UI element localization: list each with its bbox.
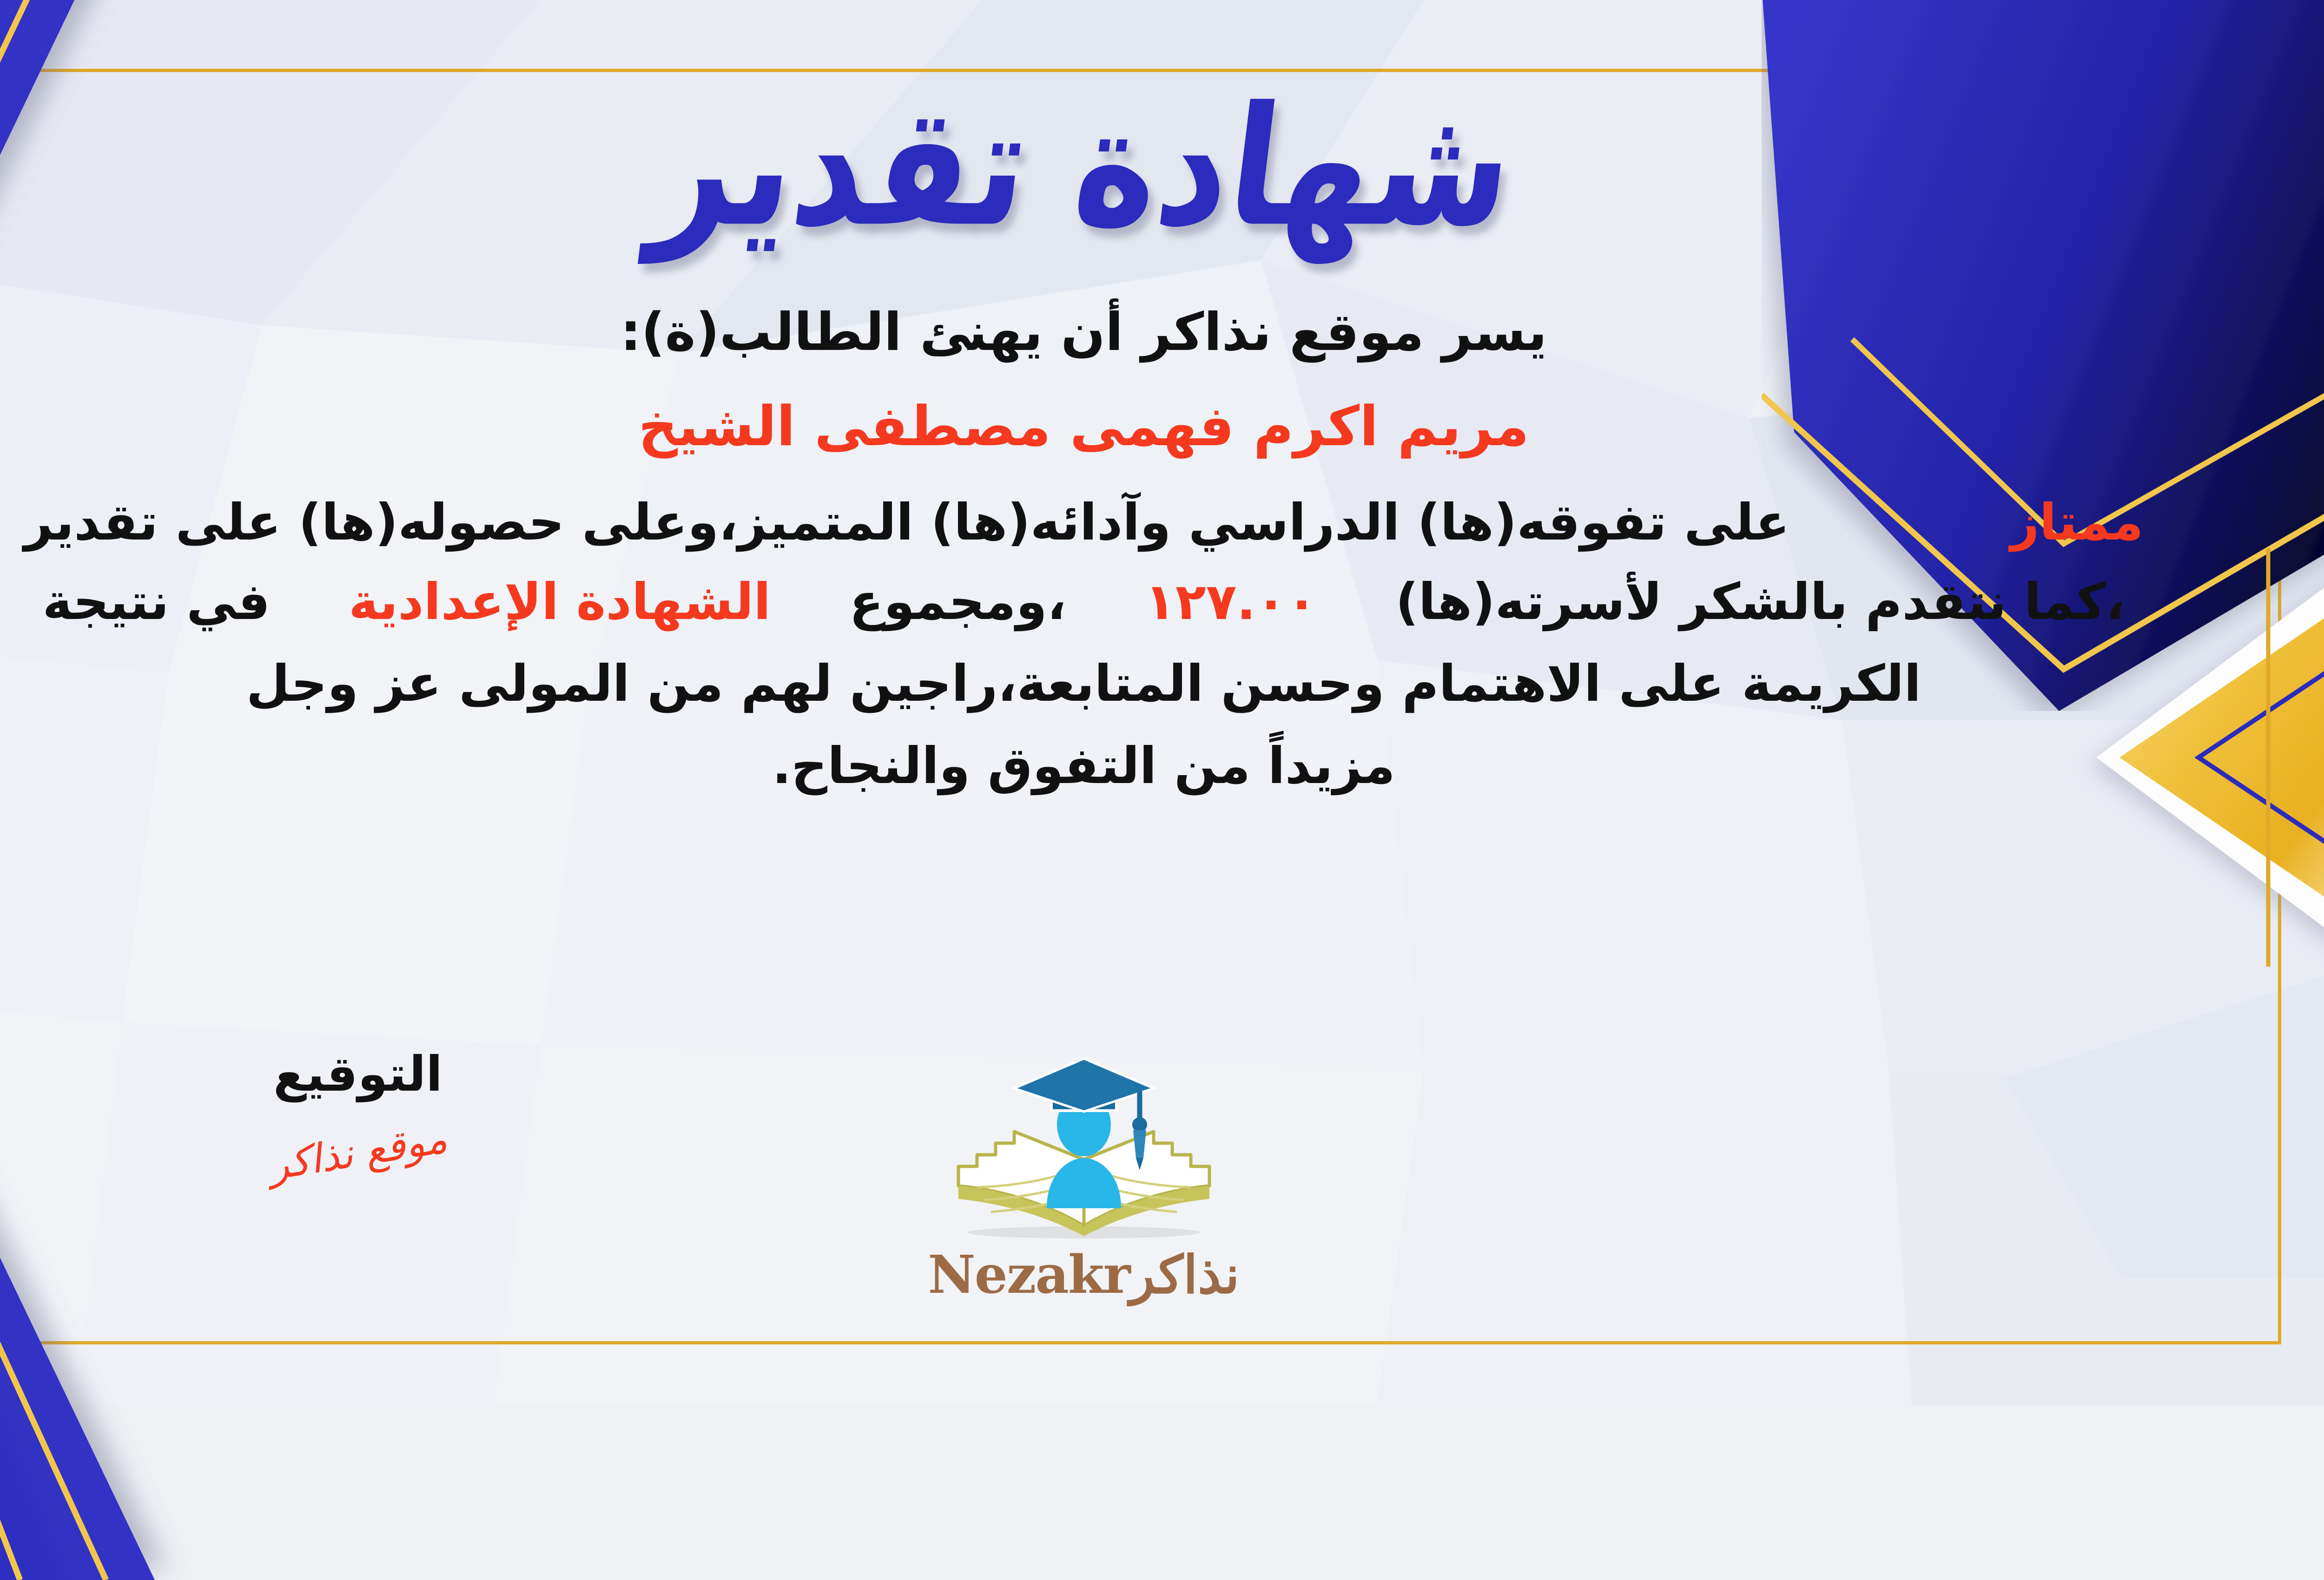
- praise-line-1-text: على تفوقه(ها) الدراسي وآدائه(ها) المتميز…: [24, 483, 1790, 563]
- graduation-book-logo-icon: [907, 1050, 1261, 1250]
- signature-block: التوقيع موقع نذاكر: [195, 1046, 521, 1176]
- certificate-body: يسر موقع نذاكر أن يهنئ الطالب(ة): مريم ا…: [24, 293, 2144, 806]
- signature-mark: موقع نذاكر: [266, 1115, 450, 1189]
- total-score-value: ١٢٧.٠٠: [1145, 563, 1317, 642]
- praise-line-3: الكريمة على الاهتمام وحسن المتابعة،راجين…: [24, 645, 2144, 724]
- page-title: شهادة تقدير: [646, 85, 1522, 250]
- grade-value: ممتاز: [2010, 483, 2143, 563]
- signature-label: التوقيع: [195, 1046, 521, 1102]
- logo-wordmark: نذاكرNezakr: [875, 1244, 1293, 1305]
- total-label: ،ومجموع: [849, 563, 1066, 642]
- intro-line: يسر موقع نذاكر أن يهنئ الطالب(ة):: [24, 293, 2144, 372]
- exam-name: الشهادة الإعدادية: [349, 563, 771, 642]
- certificate-footer: التوقيع موقع نذاكر: [0, 1046, 2324, 1352]
- praise-line-1: ممتاز على تفوقه(ها) الدراسي وآدائه(ها) ا…: [24, 483, 2144, 563]
- family-thanks-text: ،كما نتقدم بالشكر لأسرته(ها): [1395, 563, 2125, 642]
- logo-wordmark-latin: Nezakr: [928, 1244, 1129, 1305]
- logo-block: نذاكرNezakr: [875, 1050, 1293, 1305]
- praise-line-2: ،كما نتقدم بالشكر لأسرته(ها) ١٢٧.٠٠ ،ومج…: [24, 563, 2144, 642]
- result-label: في نتيجة: [43, 563, 271, 642]
- praise-line-4: مزيداً من التفوق والنجاح.: [24, 727, 2144, 806]
- logo-wordmark-arabic: نذاكر: [1130, 1244, 1240, 1305]
- student-name: مريم اكرم فهمى مصطفى الشيخ: [24, 394, 2144, 458]
- title-container: شهادة تقدير: [0, 70, 2324, 265]
